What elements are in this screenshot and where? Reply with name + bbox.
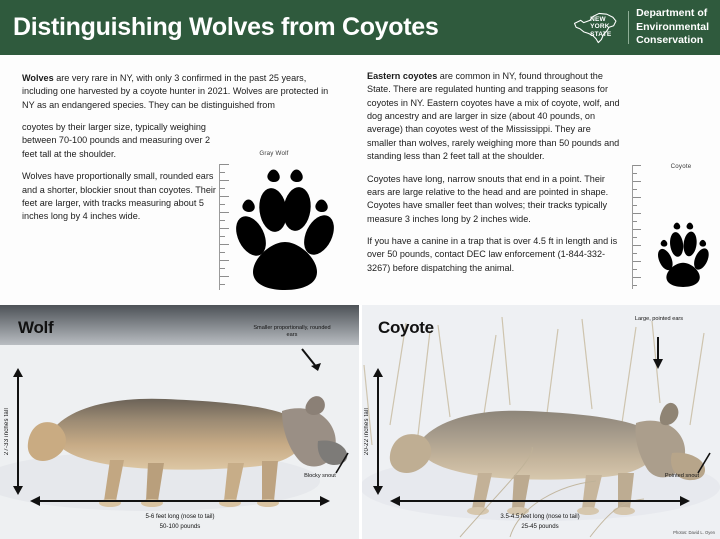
coyote-length-label: 3.5-4.5 feet long (nose to tail) xyxy=(390,513,690,522)
wolves-lead-word: Wolves xyxy=(22,73,54,83)
agency-line-3: Conservation xyxy=(636,34,709,47)
wolves-text-column: Wolves are very rare in NY, with only 3 … xyxy=(22,72,227,233)
coyote-height-measure: 20-22 inches tall xyxy=(364,368,385,495)
coyotes-paragraph-3: If you have a canine in a trap that is o… xyxy=(367,235,620,275)
logo-line-state: STATE xyxy=(590,31,611,39)
wolves-paragraph-1: Wolves are very rare in NY, with only 3 … xyxy=(22,72,342,112)
page-title: Distinguishing Wolves from Coyotes xyxy=(13,13,439,42)
wolf-species-label: Wolf xyxy=(18,318,53,338)
logo-line-new: NEW xyxy=(590,16,611,24)
page-header: Distinguishing Wolves from Coyotes NEW Y… xyxy=(0,0,720,55)
wolves-paragraph-1-rest: are very rare in NY, with only 3 confirm… xyxy=(22,73,328,110)
coyotes-text-column: Eastern coyotes are common in NY, found … xyxy=(367,70,620,284)
coyote-track-ruler xyxy=(632,165,633,289)
coyote-length-arrow-icon xyxy=(390,495,690,507)
logo-line-york: YORK xyxy=(590,23,611,31)
coyote-paw-print-icon xyxy=(654,215,710,289)
wolf-height-label: 27-33 inches tall xyxy=(4,408,10,455)
wolf-track-label: Gray Wolf xyxy=(239,150,309,157)
wolf-ears-arrow-icon xyxy=(300,347,326,377)
brand-divider xyxy=(628,11,629,44)
wolf-snout-pointer-icon xyxy=(332,451,354,477)
wolf-length-label: 5-6 feet long (nose to tail) xyxy=(30,513,330,522)
coyote-snout-pointer-icon xyxy=(694,451,716,477)
coyote-ears-arrow-icon xyxy=(650,337,666,371)
coyotes-paragraph-1: Eastern coyotes are common in NY, found … xyxy=(367,70,620,164)
wolf-ears-callout: Smaller proportionally, rounded ears xyxy=(249,325,335,340)
coyote-track-figure: Coyote xyxy=(622,163,717,293)
wolf-photo-panel: Wolf Smaller proportionally, rounded ear… xyxy=(0,305,360,539)
coyotes-paragraph-1-rest: are common in NY, found throughout the S… xyxy=(367,71,620,161)
dec-brand-logo: NEW YORK STATE Department of Environment… xyxy=(573,7,709,47)
coyote-weight-label: 25-45 pounds xyxy=(390,523,690,532)
wolf-length-arrow-icon xyxy=(30,495,330,507)
gray-wolf-paw-print-icon xyxy=(231,160,335,292)
wolf-track-ruler xyxy=(219,164,220,290)
wolf-length-measure: 5-6 feet long (nose to tail) 50-100 poun… xyxy=(30,494,330,531)
infographic-page: Distinguishing Wolves from Coyotes NEW Y… xyxy=(0,0,720,539)
agency-line-2: Environmental xyxy=(636,21,709,34)
coyote-track-label: Coyote xyxy=(654,163,708,170)
wolves-paragraph-2: Wolves have proportionally small, rounde… xyxy=(22,170,227,223)
panel-divider xyxy=(359,305,362,539)
coyote-length-measure: 3.5-4.5 feet long (nose to tail) 25-45 p… xyxy=(390,494,690,531)
wolf-height-measure: 27-33 inches tall xyxy=(4,368,25,495)
coyotes-lead-word: Eastern coyotes xyxy=(367,71,437,81)
coyote-photo-panel: Coyote Large, pointed ears Pointed snout… xyxy=(360,305,720,539)
gray-wolf-track-figure: Gray Wolf xyxy=(205,150,340,295)
coyotes-paragraph-2: Coyotes have long, narrow snouts that en… xyxy=(367,173,620,226)
coyote-height-label: 20-22 inches tall xyxy=(364,408,370,455)
new-york-state-outline-icon: NEW YORK STATE xyxy=(573,10,619,46)
wolf-weight-label: 50-100 pounds xyxy=(30,523,330,532)
coyote-height-arrow-icon xyxy=(371,368,385,495)
wolves-paragraph-1b: coyotes by their larger size, typically … xyxy=(22,121,227,161)
wolf-height-arrow-icon xyxy=(11,368,25,495)
coyote-ears-callout: Large, pointed ears xyxy=(614,316,704,323)
ny-state-wordmark: NEW YORK STATE xyxy=(590,16,611,40)
photo-credit: Photos: David L. Oyen xyxy=(673,530,715,535)
coyote-species-label: Coyote xyxy=(378,318,434,338)
agency-name: Department of Environmental Conservation xyxy=(636,7,709,47)
agency-line-1: Department of xyxy=(636,7,709,20)
